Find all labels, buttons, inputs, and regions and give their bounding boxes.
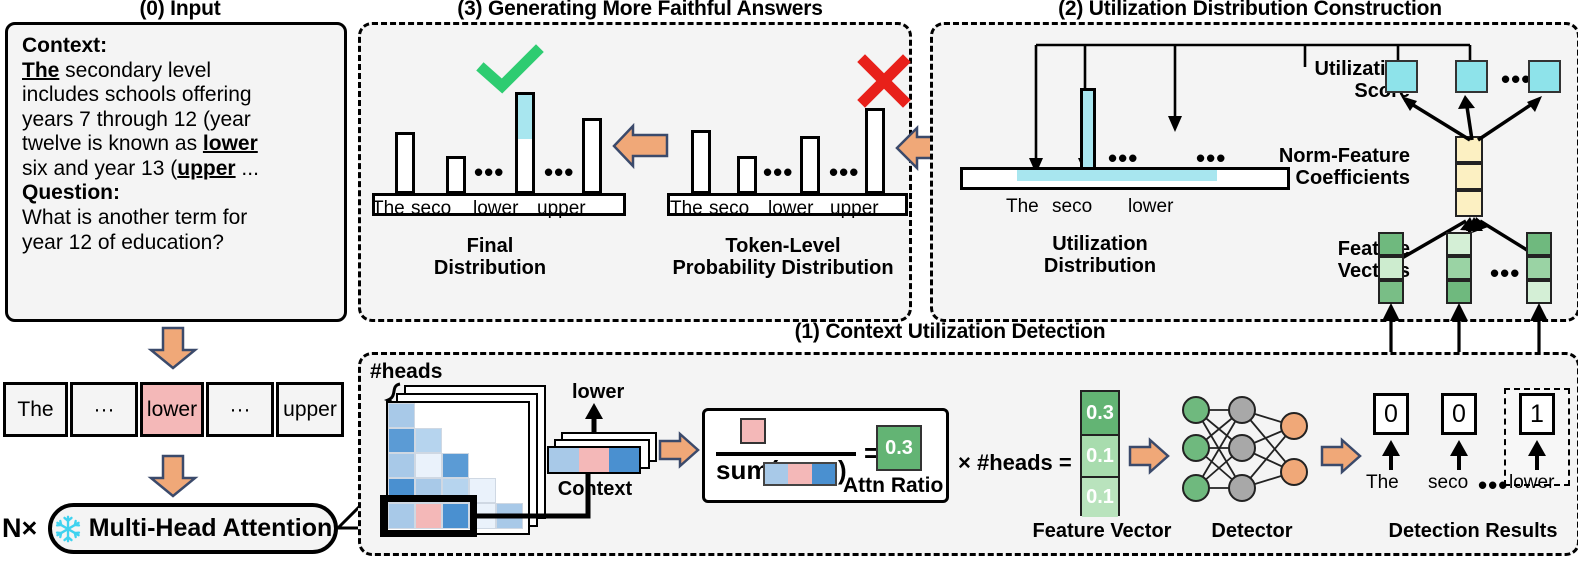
final-tick-lower: lower	[473, 198, 518, 220]
dist-tick-the: The	[1006, 196, 1039, 218]
detection-up-arrows	[1380, 440, 1550, 472]
right-arrow-to-results	[1320, 438, 1362, 474]
dist-tick-lower: lower	[1128, 196, 1173, 218]
context-row	[547, 446, 641, 474]
right-arrow-to-formula	[658, 432, 700, 468]
question-label: Question:	[22, 181, 326, 206]
input-context-text: Context: The secondary level includes sc…	[11, 28, 335, 310]
utilization-score-ellipsis: •••	[1501, 66, 1531, 92]
final-tick-seco: seco	[411, 198, 451, 220]
feature-vector-values: 0.3 0.1 0.1	[1080, 390, 1120, 516]
token-label: The	[17, 398, 53, 422]
detection-value-1: 0	[1441, 393, 1477, 435]
mha-label: Multi-Head Attention	[89, 514, 332, 543]
feature-vector-caption: Feature Vector	[1022, 520, 1182, 542]
target-token-label: lower	[572, 381, 624, 404]
panel-title-detection: (1) Context Utilization Detection	[740, 320, 1160, 344]
token-label: ···	[230, 398, 251, 422]
bar-the	[395, 132, 415, 194]
caption-line-1: Token-Level	[653, 235, 913, 257]
chart-ellipsis-1: •••	[763, 159, 793, 185]
detector-network	[1178, 390, 1318, 515]
tokenlevel-tick-upper: upper	[830, 198, 879, 220]
token-level-distribution-chart: ••• •••	[667, 60, 912, 200]
final-distribution-chart: ••• •••	[372, 60, 642, 200]
detection-token-0: The	[1366, 472, 1399, 494]
context-label: Context:	[22, 34, 326, 59]
down-arrow-1	[148, 326, 198, 370]
token-level-caption: Token-Level Probability Distribution	[653, 235, 913, 280]
feature-value-1: 0.1	[1082, 436, 1118, 478]
norm-feature-coefficients-vector	[1455, 136, 1483, 217]
tokenlevel-tick-seco: seco	[709, 198, 749, 220]
context-caption: Context	[549, 478, 641, 500]
panel-title-utilization: (2) Utilization Distribution Constructio…	[960, 0, 1540, 21]
norm-feature-coefficients-label: Norm-Feature Coefficients	[1218, 145, 1410, 190]
feature-vector-3	[1526, 232, 1552, 304]
down-arrow-2	[148, 454, 198, 498]
bar-seco	[737, 156, 757, 194]
context-line-3: years 7 through 12 (year	[22, 108, 326, 133]
coef-to-score-arrows	[1380, 90, 1578, 145]
numerator-cell	[740, 418, 766, 444]
detection-value-0: 0	[1373, 393, 1409, 435]
bar-seco	[446, 156, 466, 194]
left-arrow-mid	[611, 124, 669, 168]
question-line-2: year 12 of education?	[22, 231, 326, 256]
tokenlevel-tick-the: The	[670, 198, 703, 220]
bar-lower	[1080, 88, 1096, 170]
feature-vector-2	[1446, 232, 1472, 304]
context-line-4: twelve is known as lower	[22, 132, 326, 157]
feature-vector-1	[1378, 232, 1404, 304]
label-line-2: Coefficients	[1218, 167, 1410, 189]
detector-caption: Detector	[1192, 520, 1312, 542]
final-tick-upper: upper	[537, 198, 586, 220]
token-label: lower	[147, 398, 197, 422]
attn-ratio-value: 0.3	[876, 425, 922, 471]
bar-lower	[800, 136, 820, 194]
context-line-1: The secondary level	[22, 59, 326, 84]
repeat-count-label: N×	[2, 513, 37, 544]
detection-token-1: seco	[1428, 472, 1468, 494]
denominator-row	[763, 462, 837, 486]
caption-line-1: Utilization	[1010, 233, 1190, 255]
bar-upper	[865, 108, 885, 194]
caption-line-2: Distribution	[1010, 255, 1190, 277]
token-label: upper	[283, 398, 337, 422]
dist-tick-seco: seco	[1052, 196, 1092, 218]
input-token-3[interactable]: ···	[206, 382, 274, 437]
input-token-2[interactable]: lower	[140, 382, 204, 437]
input-token-4[interactable]: upper	[276, 382, 344, 437]
feature-vector-ellipsis: •••	[1490, 260, 1520, 286]
final-distribution-caption: Final Distribution	[400, 235, 580, 280]
tokenlevel-tick-lower: lower	[768, 198, 813, 220]
times-heads-label: × #heads =	[958, 450, 1072, 476]
detection-ellipsis: •••	[1478, 472, 1508, 498]
question-line-1: What is another term for	[22, 206, 326, 231]
detection-token-2: lower	[1509, 472, 1554, 494]
dist-ellipsis-1: •••	[1108, 145, 1138, 171]
input-token-1[interactable]: ···	[70, 382, 138, 437]
caption-line-2: Distribution	[400, 257, 580, 279]
chart-ellipsis-2: •••	[544, 159, 574, 185]
panel-title-generating: (3) Generating More Faithful Answers	[400, 0, 880, 21]
snowflake-icon	[54, 515, 82, 543]
heads-label: #heads	[370, 360, 442, 384]
bar-the	[691, 130, 711, 194]
caption-line-1: Final	[400, 235, 580, 257]
attn-ratio-caption: Attn Ratio	[843, 474, 943, 498]
feature-value-0: 0.3	[1082, 392, 1118, 436]
figure-root: (0) Input (3) Generating More Faithful A…	[0, 0, 1578, 561]
bar-lower	[515, 92, 535, 194]
utilization-score-box-3	[1528, 60, 1561, 93]
utilization-score-box-2	[1455, 60, 1488, 93]
multi-head-attention-block[interactable]: Multi-Head Attention	[48, 503, 338, 554]
chart-ellipsis-2: •••	[829, 159, 859, 185]
token-label: ···	[94, 398, 115, 422]
right-arrow-to-detector	[1128, 438, 1170, 474]
feature-value-2: 0.1	[1082, 478, 1118, 517]
highlighted-attention-row	[380, 495, 477, 537]
detection-value-2: 1	[1519, 393, 1555, 435]
final-tick-the: The	[372, 198, 405, 220]
label-line-1: Utilization	[1230, 58, 1410, 80]
label-line-1: Norm-Feature	[1218, 145, 1410, 167]
bar-upper	[582, 118, 602, 194]
detection-results-caption: Detection Results	[1368, 520, 1578, 542]
input-token-0[interactable]: The	[3, 382, 68, 437]
context-line-2: includes schools offering	[22, 83, 326, 108]
caption-line-2: Probability Distribution	[653, 257, 913, 279]
context-line-5: six and year 13 (upper ...	[22, 157, 326, 182]
utilization-score-box-1	[1385, 60, 1418, 93]
utilization-distribution-caption: Utilization Distribution	[1010, 233, 1190, 278]
panel-title-input: (0) Input	[50, 0, 310, 21]
chart-ellipsis-1: •••	[474, 159, 504, 185]
